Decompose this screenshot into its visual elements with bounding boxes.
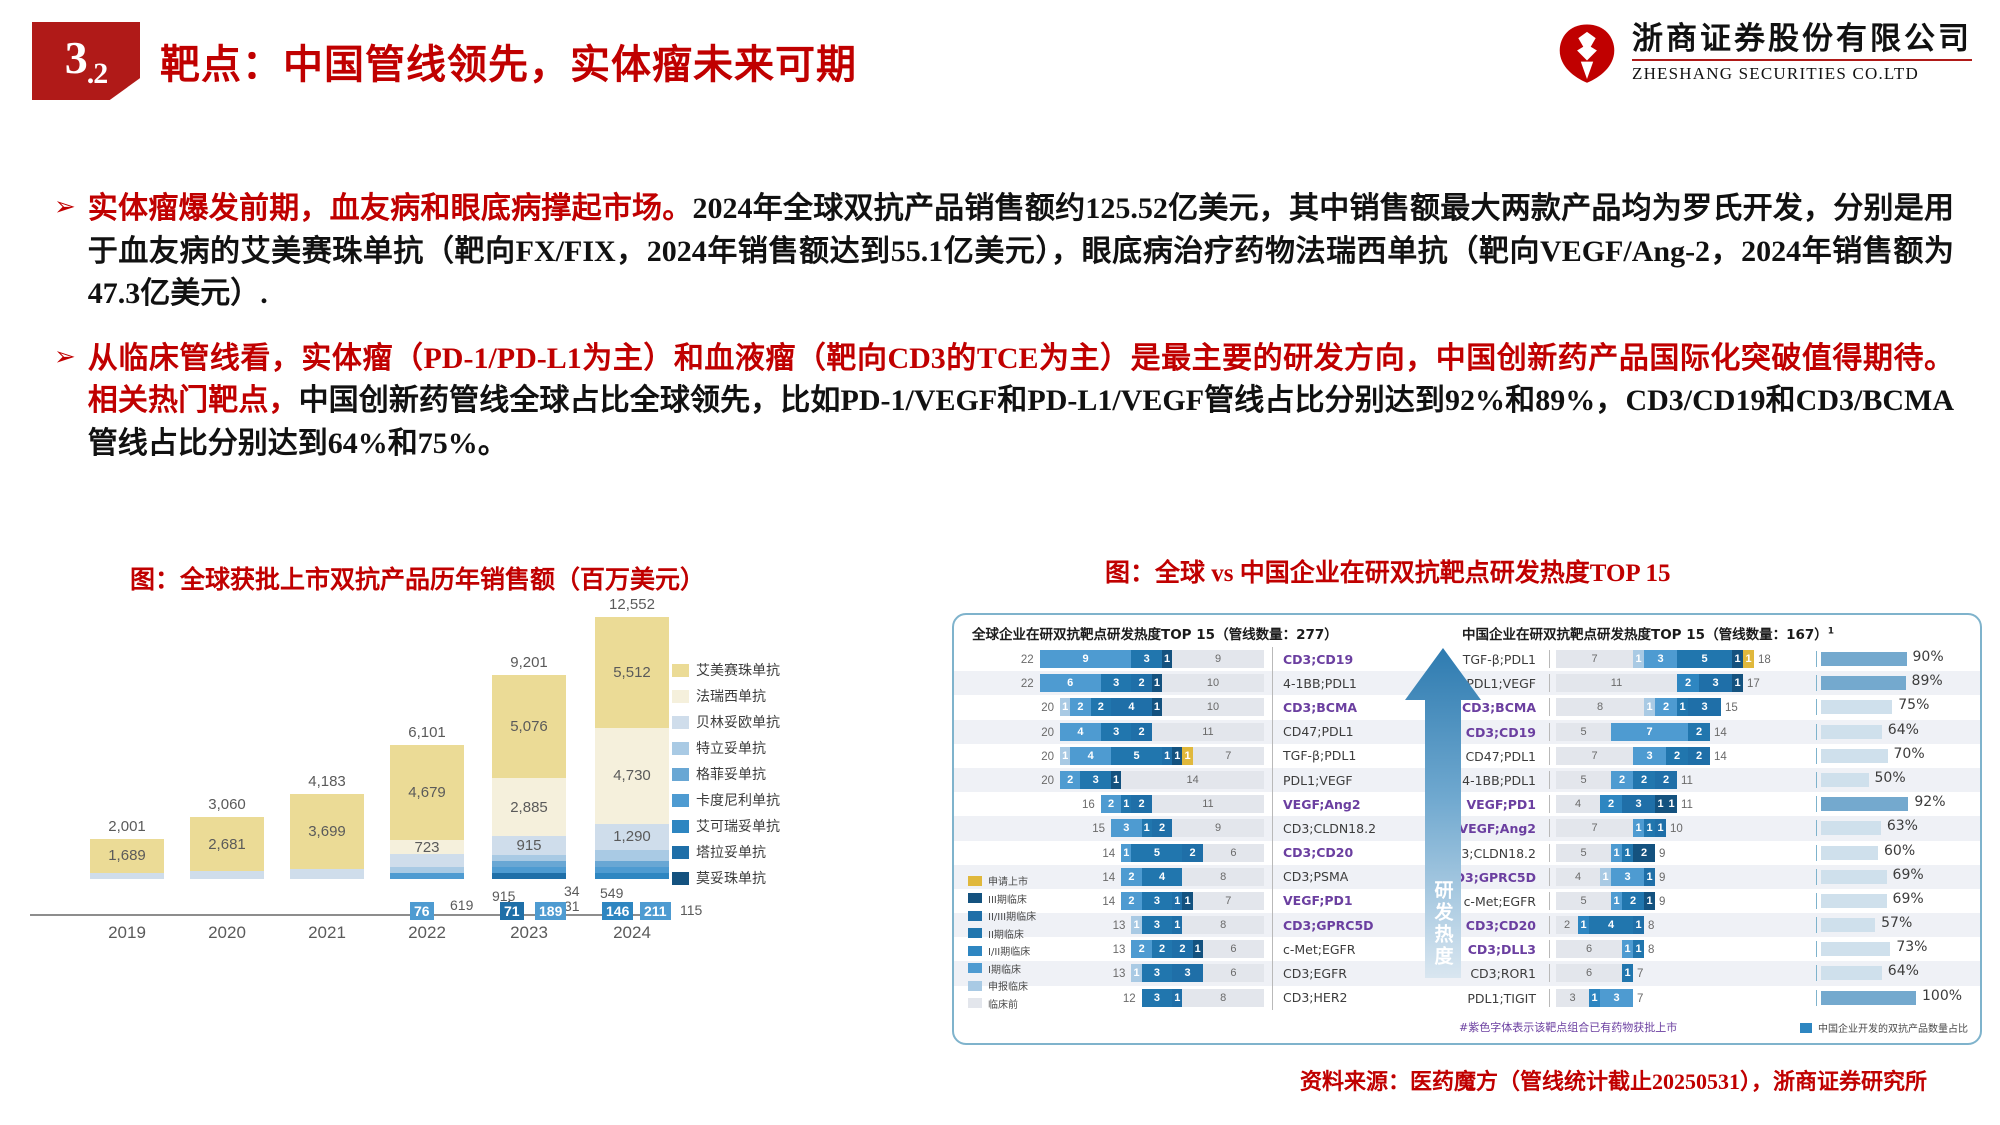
target-name-cell: CD47;PDL1	[1272, 720, 1407, 744]
percent-bar-wrap: 57%	[1816, 917, 1976, 933]
bar-segment-preclinical: 9	[1172, 650, 1264, 668]
percent-bar	[1821, 797, 1908, 811]
bar-column: 6,1017234,679	[390, 745, 464, 879]
bar-segment	[90, 873, 164, 879]
bar-segment: 3	[1600, 989, 1633, 1007]
target-label: CD3;PSMA	[1283, 869, 1348, 884]
china-total-label: 9	[1659, 872, 1665, 884]
target-name-cell: CD3;GPRC5D	[1272, 913, 1407, 937]
bar-segment: 1	[1644, 868, 1655, 886]
bar-chart-legend: 艾美赛珠单抗法瑞西单抗贝林妥欧单抗特立妥单抗格菲妥单抗卡度尼利单抗艾可瑞妥单抗塔…	[672, 660, 780, 888]
bar-segment	[595, 861, 669, 867]
bar-column: 9,2019152,8855,076	[492, 675, 566, 879]
global-bar: 14132	[1060, 771, 1264, 789]
china-bar: 7322	[1556, 747, 1710, 765]
target-name-cell: TGF-β;PDL1	[1272, 744, 1407, 768]
bar-segment: 2	[1655, 771, 1677, 789]
bar-segment: 4	[1142, 868, 1183, 886]
bullet-item: ➢ 实体瘤爆发前期，血友病和眼底病撑起市场。2024年全球双抗产品销售额约125…	[54, 188, 1954, 316]
china-bar: 611	[1556, 940, 1644, 958]
stage-legend-item: III期临床	[968, 891, 1036, 906]
global-bar: 9139	[1040, 650, 1264, 668]
china-bar-wrap: 711110	[1549, 819, 1799, 837]
percent-bar-wrap: 73%	[1816, 941, 1976, 957]
bar-segment: 1	[1622, 940, 1633, 958]
china-bar: 572	[1556, 723, 1710, 741]
bar-segment: 1	[1666, 795, 1677, 813]
legend-label: I期临床	[988, 961, 1021, 976]
bar-segment-preclinical: 11	[1556, 674, 1677, 692]
china-bar-wrap: 617	[1549, 964, 1799, 982]
bullet-text: 实体瘤爆发前期，血友病和眼底病撑起市场。2024年全球双抗产品销售额约125.5…	[88, 188, 1954, 316]
global-total-label: 22	[1021, 654, 1034, 666]
china-bar: 313	[1556, 989, 1633, 1007]
bar-segment: 2	[1688, 723, 1710, 741]
target-label: CD3;HER2	[1283, 990, 1347, 1005]
x-axis-label: 2024	[595, 923, 669, 943]
bar-total-label: 9,201	[510, 654, 548, 671]
stage-legend-item: 临床前	[968, 996, 1036, 1011]
legend-swatch-icon	[672, 716, 689, 729]
legend-item: 塔拉妥单抗	[672, 842, 780, 862]
bar-segment: 1	[1633, 650, 1644, 668]
percent-label: 89%	[1912, 673, 1943, 689]
bar-segment: 4,679	[390, 745, 464, 840]
bar-segment: 2	[1121, 868, 1141, 886]
bar-value-callout: 34	[564, 883, 580, 899]
right-chart-title: 图：全球 vs 中国企业在研双抗靶点研发热度TOP 15	[1105, 553, 1671, 589]
percent-label: 64%	[1888, 722, 1919, 738]
legend-swatch-icon	[968, 981, 982, 991]
bar-total-label: 6,101	[408, 724, 446, 741]
bar-segment: 3	[1080, 771, 1111, 789]
bar-segment	[492, 855, 566, 861]
target-label: CD3;GPRC5D	[1283, 918, 1374, 933]
legend-swatch-icon	[1800, 1023, 1812, 1033]
target-name-cell: CD3;PSMA	[1272, 865, 1407, 889]
percent-label: 75%	[1898, 697, 1929, 713]
panel-footnote: #紫色字体表示该靶点组合已有药物获批上市	[1459, 1019, 1677, 1035]
percent-bar-wrap: 69%	[1816, 869, 1976, 885]
stage-legend-item: 申请上市	[968, 873, 1036, 888]
global-total-label: 13	[1113, 944, 1126, 956]
bar-segment: 2	[1060, 771, 1080, 789]
bar-segment	[492, 867, 566, 873]
bar-segment-preclinical: 8	[1182, 989, 1264, 1007]
percent-bar	[1821, 700, 1892, 714]
bar-segment-preclinical: 7	[1193, 892, 1264, 910]
bar-segment: 3	[1142, 964, 1173, 982]
company-logo: 浙商证券股份有限公司 ZHESHANG SECURITIES CO.LTD	[1556, 22, 1972, 84]
china-panel-heading: 中国企业在研双抗靶点研发热度TOP 15（管线数量：167）1	[1462, 623, 1834, 643]
bar-segment: 3	[1644, 650, 1677, 668]
bar-segment: 1	[1633, 819, 1644, 837]
global-bar: 61222	[1131, 940, 1264, 958]
bar-segment: 3	[1699, 674, 1732, 692]
bar-segment: 1	[1600, 868, 1611, 886]
legend-item: 卡度尼利单抗	[672, 790, 780, 810]
china-bar-wrap: 51129	[1549, 844, 1799, 862]
legend-item: 莫妥珠单抗	[672, 868, 780, 888]
percent-bar	[1821, 749, 1888, 763]
bar-segment: 1	[1644, 819, 1655, 837]
bar-segment: 1	[1589, 989, 1600, 1007]
percent-bar-wrap: 64%	[1816, 724, 1976, 740]
china-total-label: 9	[1659, 896, 1665, 908]
legend-swatch-icon	[968, 946, 982, 956]
legend-swatch-icon	[672, 872, 689, 885]
percent-bar-wrap: 75%	[1816, 699, 1976, 715]
bar-segment: 3	[1131, 650, 1162, 668]
bar-segment: 1	[1162, 650, 1172, 668]
bar-segment: 1	[1172, 747, 1182, 765]
global-bar: 11234	[1060, 723, 1264, 741]
bar-segment: 1	[1131, 916, 1141, 934]
bar-segment	[390, 867, 464, 873]
bar-segment-preclinical: 8	[1182, 868, 1264, 886]
china-total-label: 17	[1747, 678, 1760, 690]
bar-segment: 6	[1040, 674, 1101, 692]
target-name-cell: PDL1;VEGF	[1272, 768, 1407, 792]
bar-segment: 1	[1611, 844, 1622, 862]
global-bar: 6331	[1131, 964, 1264, 982]
bar-segment-preclinical: 6	[1203, 844, 1264, 862]
china-total-label: 18	[1758, 654, 1771, 666]
bar-value-callout: 146	[602, 902, 633, 920]
bar-column: 12,5521,2904,7305,512	[595, 617, 669, 879]
china-bar: 5112	[1556, 844, 1655, 862]
percent-label: 60%	[1884, 843, 1915, 859]
bar-segment: 2	[1688, 747, 1710, 765]
global-bar-wrap: 625114	[964, 844, 1264, 862]
global-total-label: 14	[1102, 872, 1115, 884]
legend-swatch-icon	[968, 963, 982, 973]
bar-segment-preclinical: 4	[1556, 868, 1600, 886]
china-bar-wrap: 57214	[1549, 723, 1799, 741]
bar-segment: 3	[1622, 795, 1655, 813]
bar-segment: 2	[1131, 674, 1151, 692]
bullet-rest: 中国创新药管线全球占比全球领先，比如PD-1/VEGF和PD-L1/VEGF管线…	[88, 384, 1954, 460]
bar-segment: 1	[1677, 698, 1688, 716]
global-bar: 11212	[1101, 795, 1264, 813]
bar-segment: 1	[1172, 989, 1182, 1007]
bar-segment-preclinical: 7	[1556, 650, 1633, 668]
legend-swatch-icon	[672, 820, 689, 833]
bar-segment-preclinical: 10	[1162, 674, 1264, 692]
page-title: 靶点：中国管线领先，实体瘤未来可期	[160, 32, 857, 90]
sales-bar-chart: 2,0011,6893,0602,6814,1833,6996,1017234,…	[30, 625, 670, 955]
stage-legend-item: II期临床	[968, 926, 1036, 941]
bar-segment: 723	[390, 840, 464, 855]
bullet-marker-icon: ➢	[54, 188, 76, 316]
bar-segment: 1	[1644, 698, 1655, 716]
bar-segment: 3	[1142, 892, 1173, 910]
bar-segment: 1,689	[90, 839, 164, 873]
stage-legend: 申请上市III期临床II/III期临床II期临床I/II期临床I期临床申报临床临…	[968, 873, 1036, 1011]
zheshang-logo-icon	[1556, 22, 1618, 84]
bar-segment: 2,885	[492, 778, 566, 836]
legend-swatch-icon	[672, 664, 689, 677]
target-name-cell: CD3;CD19	[1272, 647, 1407, 671]
china-bar-wrap: 41319	[1549, 868, 1799, 886]
left-chart-title: 图：全球获批上市双抗产品历年销售额（百万美元）	[130, 560, 705, 596]
bar-column: 4,1833,699	[290, 794, 364, 879]
bar-segment: 3	[1142, 916, 1173, 934]
bar-segment: 3	[1101, 723, 1132, 741]
bar-segment-preclinical: 8	[1182, 916, 1264, 934]
bar-segment: 5,512	[595, 617, 669, 729]
china-bar-wrap: 51219	[1549, 892, 1799, 910]
bar-segment: 1	[1633, 940, 1644, 958]
bar-segment	[390, 854, 464, 867]
china-bar: 42311	[1556, 795, 1677, 813]
bar-segment: 915	[492, 836, 566, 855]
global-total-label: 20	[1041, 702, 1054, 714]
bar-segment: 3	[1142, 989, 1173, 1007]
bar-segment: 2	[1121, 892, 1141, 910]
percent-bar-wrap: 63%	[1816, 820, 1976, 836]
bullet-text: 从临床管线看，实体瘤（PD-1/PD-L1为主）和血液瘤（靶向CD3的TCE为主…	[88, 338, 1954, 466]
bar-segment: 2	[1655, 698, 1677, 716]
bar-segment: 2	[1131, 795, 1151, 813]
target-name-cell: CD3;CLDN18.2	[1272, 816, 1407, 840]
bar-segment-preclinical: 11	[1152, 723, 1264, 741]
stage-legend-item: II/III期临床	[968, 908, 1036, 923]
bar-segment: 3	[1101, 674, 1132, 692]
x-axis-label: 2019	[90, 923, 164, 943]
global-bar: 842	[1121, 868, 1264, 886]
bar-segment: 2	[1600, 795, 1622, 813]
legend-swatch-icon	[968, 928, 982, 938]
percent-bar-wrap: 50%	[1816, 772, 1976, 788]
bar-segment	[390, 873, 464, 879]
global-total-label: 20	[1041, 727, 1054, 739]
percent-bar-wrap: 89%	[1816, 675, 1976, 691]
percent-bar	[1821, 894, 1887, 908]
legend-label: III期临床	[988, 891, 1027, 906]
target-name-cell: CD3;EGFR	[1272, 961, 1407, 985]
china-total-label: 7	[1637, 968, 1643, 980]
china-bar-wrap: 8121315	[1549, 698, 1799, 716]
bar-segment-preclinical: 6	[1556, 964, 1622, 982]
bar-segment-preclinical: 6	[1203, 964, 1264, 982]
china-bar-wrap: 732214	[1549, 747, 1799, 765]
bar-segment: 1	[1060, 698, 1070, 716]
bar-segment: 2	[1131, 723, 1151, 741]
china-bar: 5222	[1556, 771, 1677, 789]
bar-segment-preclinical: 8	[1556, 698, 1644, 716]
bar-segment: 2,681	[190, 817, 264, 871]
china-bar-wrap: 522211	[1549, 771, 1799, 789]
legend-label: 塔拉妥单抗	[696, 842, 766, 862]
percent-label: 100%	[1922, 988, 1962, 1004]
legend-label: II期临床	[988, 926, 1024, 941]
bar-segment: 9	[1040, 650, 1132, 668]
legend-item: 艾美赛珠单抗	[672, 660, 780, 680]
legend-label: 卡度尼利单抗	[696, 790, 780, 810]
percent-label: 69%	[1893, 891, 1924, 907]
target-label: VEGF;PD1	[1283, 893, 1353, 908]
section-number-tag: 3.2	[32, 22, 140, 100]
bar-segment: 2	[1622, 892, 1644, 910]
bar-segment: 3	[1688, 698, 1721, 716]
china-bar: 81213	[1556, 698, 1721, 716]
percent-label: 50%	[1875, 770, 1906, 786]
bar-segment	[492, 873, 566, 879]
bar-segment: 4,730	[595, 728, 669, 824]
bar-segment: 2	[1633, 844, 1655, 862]
bar-segment-preclinical: 9	[1172, 819, 1264, 837]
bar-segment: 1	[1152, 674, 1162, 692]
bar-segment: 1	[1611, 892, 1622, 910]
bar-segment: 2	[1152, 940, 1172, 958]
bar-total-label: 2,001	[108, 818, 146, 835]
percent-bar-wrap: 90%	[1816, 651, 1976, 667]
bar-segment: 1	[1633, 916, 1644, 934]
bar-segment: 2	[1152, 819, 1172, 837]
table-row: 81312CD3;HER2PDL1;TIGIT3137100%	[954, 986, 1980, 1010]
global-bar: 6251	[1121, 844, 1264, 862]
percent-bar	[1821, 846, 1878, 860]
bar-segment: 4	[1589, 916, 1633, 934]
bar-value-callout: 115	[680, 902, 702, 918]
global-total-label: 14	[1102, 848, 1115, 860]
target-name-cell: c-Met;EGFR	[1272, 937, 1407, 961]
target-name-cell: 4-1BB;PDL1	[1272, 671, 1407, 695]
global-total-label: 13	[1113, 968, 1126, 980]
legend-label: 格菲妥单抗	[696, 764, 766, 784]
global-panel-heading: 全球企业在研双抗靶点研发热度TOP 15（管线数量：277）	[972, 623, 1338, 643]
bar-segment	[595, 867, 669, 873]
global-bar: 101236	[1040, 674, 1264, 692]
source-note: 资料来源：医药魔方（管线统计截止20250531），浙商证券研究所	[1300, 1064, 1927, 1096]
bar-total-label: 12,552	[609, 596, 655, 613]
china-total-label: 14	[1714, 751, 1727, 763]
global-bar-wrap: 921315	[964, 819, 1264, 837]
target-label: c-Met;EGFR	[1283, 942, 1355, 957]
bar-segment: 1	[1060, 747, 1070, 765]
bar-segment-preclinical: 3	[1556, 989, 1589, 1007]
bar-segment: 2	[1611, 771, 1633, 789]
global-bar-wrap: 10123622	[964, 674, 1264, 692]
global-total-label: 22	[1021, 678, 1034, 690]
china-bar-wrap: 6118	[1549, 940, 1799, 958]
bar-segment: 3	[1172, 964, 1203, 982]
percent-bar	[1821, 676, 1906, 690]
heat-arrow: 研发热度	[1405, 648, 1481, 978]
legend-swatch-icon	[968, 876, 982, 886]
bullet-lead: 实体瘤爆发前期，血友病和眼底病撑起市场。	[88, 192, 693, 225]
percent-bar	[1821, 966, 1882, 980]
bar-segment: 5	[1111, 747, 1162, 765]
bar-column: 3,0602,681	[190, 817, 264, 879]
bar-segment-preclinical: 5	[1556, 844, 1611, 862]
legend-swatch-icon	[968, 893, 982, 903]
bar-segment: 5	[1131, 844, 1182, 862]
china-bar: 2141	[1556, 916, 1644, 934]
bar-segment: 1	[1131, 964, 1141, 982]
china-target-label: PDL1;TIGIT	[1424, 991, 1536, 1006]
target-label: PDL1;VEGF	[1283, 773, 1353, 788]
bullet-marker-icon: ➢	[54, 338, 76, 466]
bar-segment	[190, 871, 264, 879]
target-name-cell: CD3;HER2	[1272, 986, 1407, 1010]
bar-segment: 2	[1666, 747, 1688, 765]
percent-bar	[1821, 870, 1887, 884]
x-axis-label: 2022	[390, 923, 464, 943]
bar-segment-preclinical: 11	[1152, 795, 1264, 813]
china-bar: 11231	[1556, 674, 1743, 692]
heat-arrow-label: 研发热度	[1430, 880, 1457, 968]
bar-segment	[290, 869, 364, 879]
legend-label: II/III期临床	[988, 908, 1036, 923]
body-bullets: ➢ 实体瘤爆发前期，血友病和眼底病撑起市场。2024年全球双抗产品销售额约125…	[54, 188, 1954, 488]
global-total-label: 13	[1113, 920, 1126, 932]
x-axis-label: 2020	[190, 923, 264, 943]
bar-segment: 1	[1644, 892, 1655, 910]
percent-bar-wrap: 70%	[1816, 748, 1976, 764]
legend-label: 申请上市	[988, 873, 1028, 888]
global-bar-wrap: 913922	[964, 650, 1264, 668]
bar-value-callout: 211	[640, 902, 671, 920]
percent-bar-wrap: 92%	[1816, 796, 1976, 812]
bar-segment: 1	[1193, 940, 1203, 958]
bar-segment-preclinical: 6	[1203, 940, 1264, 958]
stage-legend-item: I/II期临床	[968, 943, 1036, 958]
global-bar: 9213	[1111, 819, 1264, 837]
percent-bar	[1821, 652, 1907, 666]
global-total-label: 14	[1102, 896, 1115, 908]
china-bar: 4131	[1556, 868, 1655, 886]
bar-segment: 2	[1182, 844, 1202, 862]
bar-segment: 2	[1091, 698, 1111, 716]
percent-bar-wrap: 100%	[1816, 990, 1976, 1006]
legend-swatch-icon	[968, 911, 982, 921]
target-label: CD3;CD20	[1283, 845, 1353, 860]
bar-segment-preclinical: 5	[1556, 771, 1611, 789]
bar-segment: 5	[1677, 650, 1732, 668]
bar-segment: 2	[1677, 674, 1699, 692]
china-bar-wrap: 1123117	[1549, 674, 1799, 692]
percent-bar	[1821, 942, 1890, 956]
bar-segment: 1	[1578, 916, 1589, 934]
bar-segment: 1	[1162, 747, 1172, 765]
bar-value-callout: 189	[535, 902, 566, 920]
legend-swatch-icon	[672, 794, 689, 807]
global-bar-wrap: 101422120	[964, 698, 1264, 716]
logo-company-en: ZHESHANG SECURITIES CO.LTD	[1632, 64, 1972, 84]
target-label: CD3;CD19	[1283, 652, 1353, 667]
bar-segment: 4	[1060, 723, 1101, 741]
bar-segment: 5,076	[492, 675, 566, 778]
target-name-cell: VEGF;PD1	[1272, 889, 1407, 913]
x-axis-label: 2023	[492, 923, 566, 943]
bar-segment: 4	[1111, 698, 1152, 716]
china-bar: 713511	[1556, 650, 1754, 668]
legend-label: I/II期临床	[988, 943, 1030, 958]
bar-value-callout: 71	[500, 902, 524, 920]
percent-label: 92%	[1914, 794, 1945, 810]
target-label: 4-1BB;PDL1	[1283, 676, 1357, 691]
percent-bar-wrap: 69%	[1816, 893, 1976, 909]
bar-segment: 1	[1622, 964, 1633, 982]
bar-segment: 1	[1732, 650, 1743, 668]
x-axis-label: 2021	[290, 923, 364, 943]
bar-value-callout: 76	[410, 902, 434, 920]
target-label: CD3;EGFR	[1283, 966, 1347, 981]
target-label: TGF-β;PDL1	[1283, 748, 1356, 763]
bar-segment-preclinical: 4	[1556, 795, 1600, 813]
